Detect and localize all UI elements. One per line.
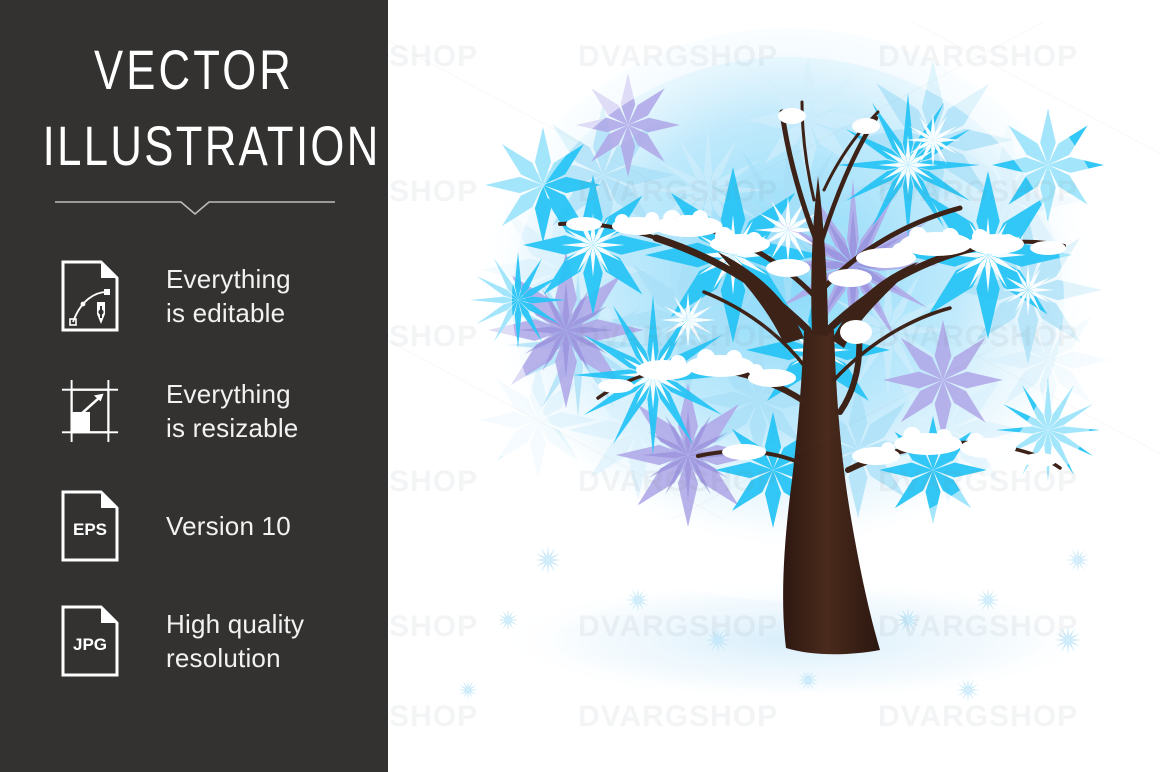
illustration-canvas: DVARGSHOP DVARGSHOP DVARGSHOP DVARGSHOP … <box>388 0 1160 772</box>
page-root: VECTOR ILLUSTRATION <box>0 0 1160 772</box>
feature-label: High quality resolution <box>166 607 304 675</box>
feature-row-editable: Everything is editable <box>0 238 388 353</box>
divider <box>55 196 335 218</box>
feature-list: Everything is editable <box>0 238 388 698</box>
page-title: VECTOR ILLUSTRATION <box>0 38 388 178</box>
feature-row-quality: JPG High quality resolution <box>0 583 388 698</box>
title-line-vector: VECTOR <box>43 38 346 102</box>
doc-abbr-text: EPS <box>73 520 107 539</box>
document-pen-tool-icon <box>60 260 120 332</box>
winter-snowflake-tree-artwork <box>388 0 1160 772</box>
feature-label: Version 10 <box>166 509 291 543</box>
document-eps-icon: EPS <box>60 490 120 562</box>
info-sidebar: VECTOR ILLUSTRATION <box>0 0 388 772</box>
doc-abbr-text: JPG <box>73 635 107 654</box>
feature-row-version: EPS Version 10 <box>0 468 388 583</box>
title-line-illustration: ILLUSTRATION <box>43 114 346 178</box>
feature-label: Everything is resizable <box>166 377 298 445</box>
document-jpg-icon: JPG <box>60 605 120 677</box>
resize-crop-arrow-icon <box>60 375 120 447</box>
feature-row-resizable: Everything is resizable <box>0 353 388 468</box>
chevron-down-icon <box>55 196 335 218</box>
feature-label: Everything is editable <box>166 262 291 330</box>
